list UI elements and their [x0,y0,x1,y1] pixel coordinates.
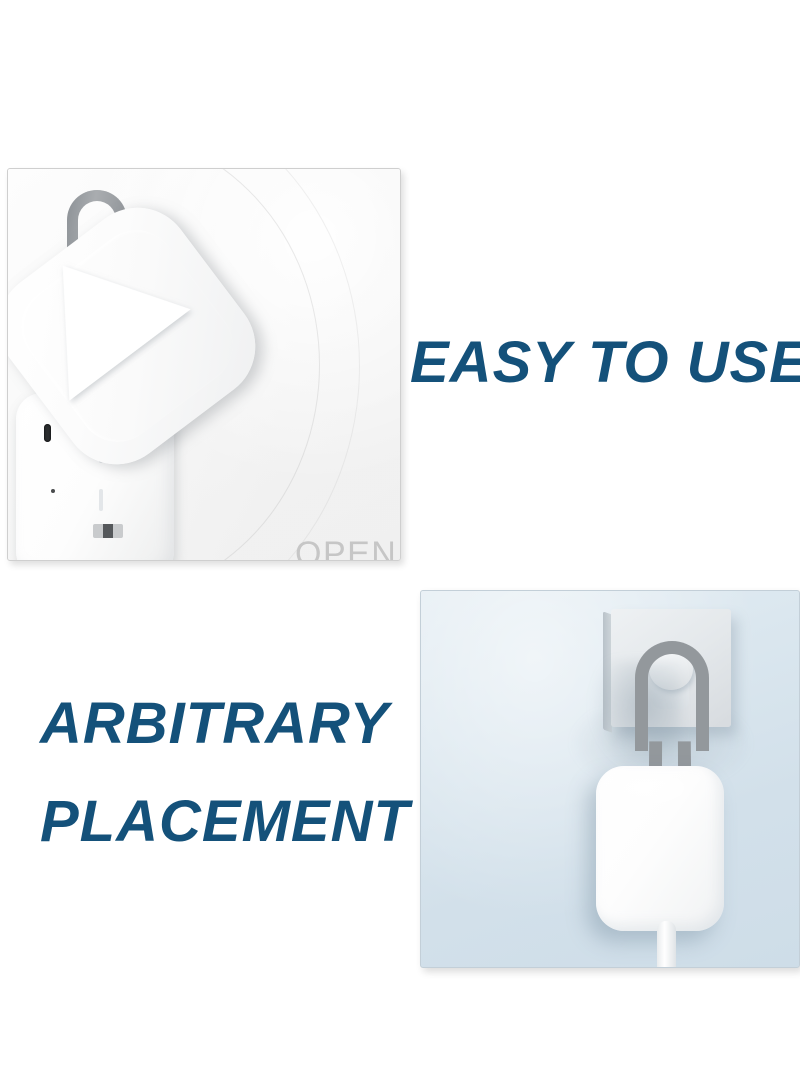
adapter-gloss [612,776,698,810]
plug-prongs [93,524,123,538]
page-canvas: OPEN EASY TO USE ARBITRARY PLACEMENT [0,0,800,1091]
charger-crease-lower [99,489,103,511]
product-photo-packaging: OPEN [7,168,401,561]
led-indicator-icon [51,489,55,493]
power-cable [657,921,676,968]
silicone-band [635,641,709,751]
headline-arbitrary: ARBITRARY [40,695,390,753]
usb-c-port-icon [44,424,51,442]
product-photo-wall-hook [420,590,800,968]
packaging-open-label: OPEN [295,535,397,561]
headline-placement: PLACEMENT [40,793,410,851]
headline-easy-to-use: EASY TO USE [410,334,800,392]
power-adapter [596,766,724,931]
